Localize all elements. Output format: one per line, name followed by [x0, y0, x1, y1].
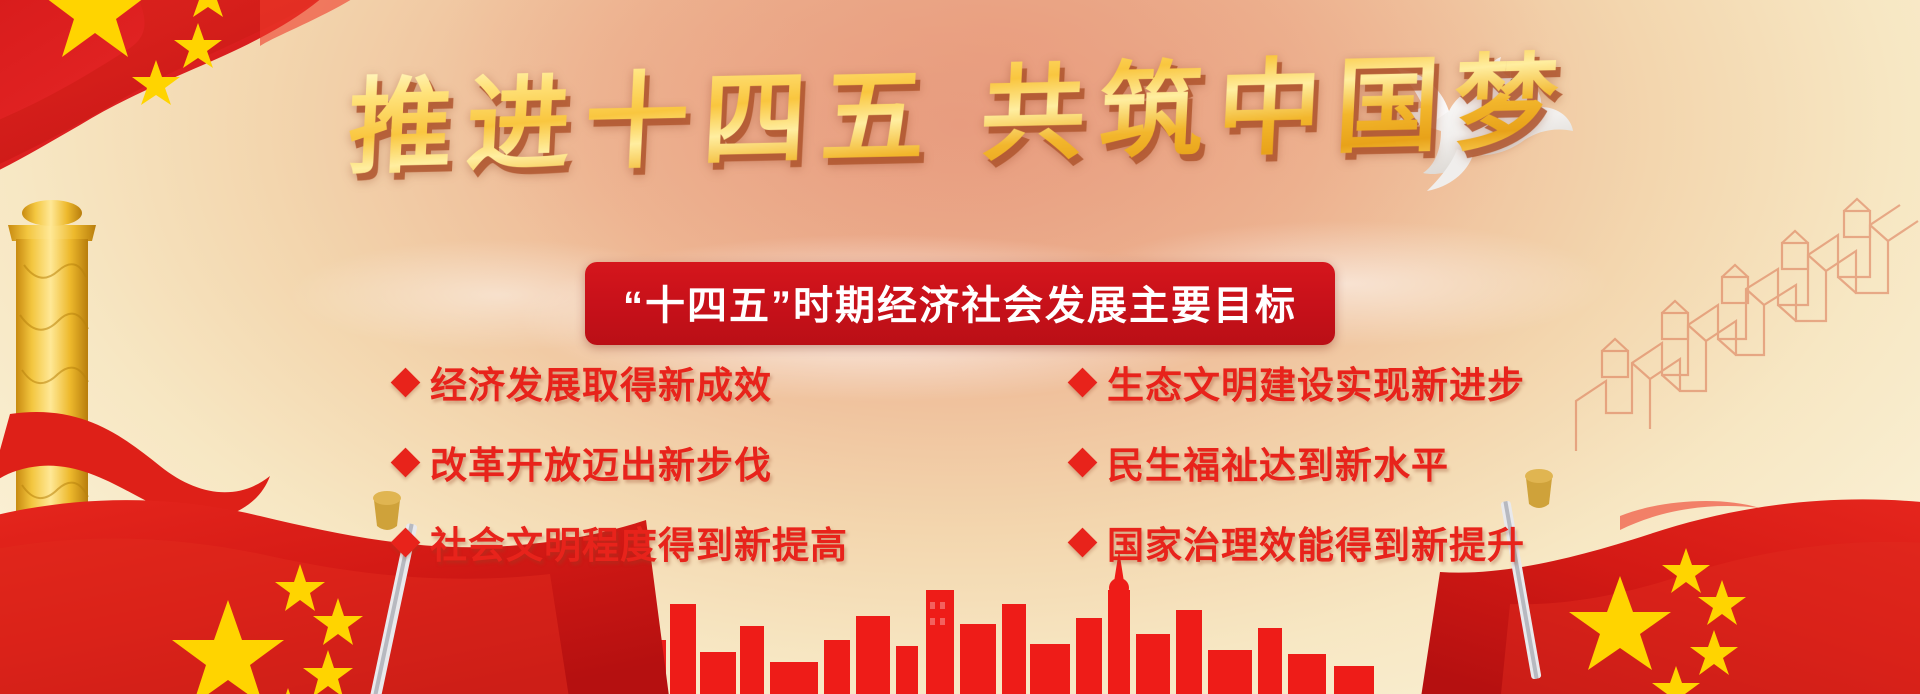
goal-item: 民生福祉达到新水平 — [1072, 435, 1525, 489]
promotional-banner: 推进十四五共筑中国梦 “十四五”时期经济社会发展主要目标 经济发展取得新成效 改… — [0, 0, 1920, 694]
goal-item: 国家治理效能得到新提升 — [1072, 515, 1525, 569]
golden-huabiao-pillar-icon — [0, 195, 110, 615]
goal-label: 社会文明程度得到新提高 — [430, 515, 848, 569]
main-title: 推进十四五共筑中国梦 — [0, 60, 1920, 169]
goal-item: 社会文明程度得到新提高 — [395, 515, 848, 569]
goals-list: 经济发展取得新成效 改革开放迈出新步伐 社会文明程度得到新提高 生态文明建设实现… — [395, 355, 1525, 569]
diamond-bullet-icon — [1068, 527, 1098, 557]
diamond-bullet-icon — [391, 527, 421, 557]
diamond-bullet-icon — [1068, 447, 1098, 477]
goal-label: 国家治理效能得到新提升 — [1107, 515, 1525, 569]
goal-item: 经济发展取得新成效 — [395, 355, 848, 409]
goal-label: 改革开放迈出新步伐 — [430, 435, 772, 489]
diamond-bullet-icon — [391, 367, 421, 397]
goal-label: 生态文明建设实现新进步 — [1107, 355, 1525, 409]
main-title-part1: 推进十四五 — [345, 53, 942, 188]
goal-label: 民生福祉达到新水平 — [1107, 435, 1449, 489]
diamond-bullet-icon — [391, 447, 421, 477]
goal-item: 改革开放迈出新步伐 — [395, 435, 848, 489]
subtitle-text: “十四五”时期经济社会发展主要目标 — [585, 262, 1335, 345]
subtitle-banner: “十四五”时期经济社会发展主要目标 — [0, 262, 1920, 345]
goal-label: 经济发展取得新成效 — [430, 355, 772, 409]
goal-item: 生态文明建设实现新进步 — [1072, 355, 1525, 409]
diamond-bullet-icon — [1068, 367, 1098, 397]
goals-column-right: 生态文明建设实现新进步 民生福祉达到新水平 国家治理效能得到新提升 — [1072, 355, 1525, 569]
main-title-part2: 共筑中国梦 — [978, 40, 1575, 175]
title-gap — [937, 151, 979, 152]
goals-column-left: 经济发展取得新成效 改革开放迈出新步伐 社会文明程度得到新提高 — [395, 355, 848, 569]
